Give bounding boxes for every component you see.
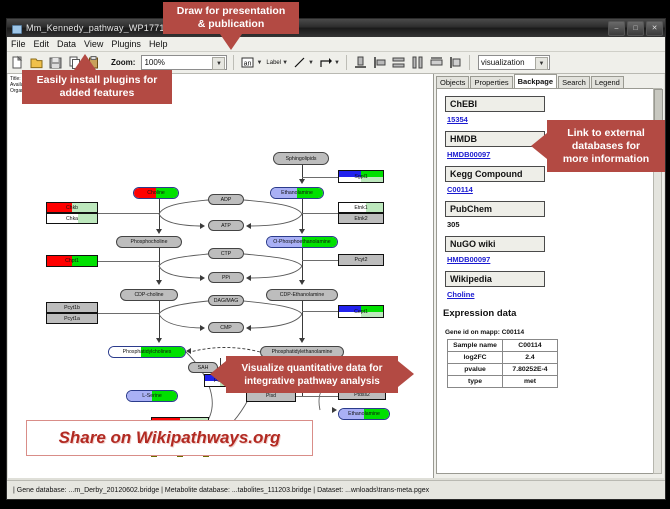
expression-key: Sample name bbox=[448, 340, 503, 352]
callout-link-line2: databases for bbox=[572, 140, 640, 153]
metabolite-node[interactable]: L-Serine bbox=[126, 390, 178, 402]
gene-node[interactable]: Chka bbox=[46, 213, 98, 224]
metabolite-node[interactable]: Phosphatidylcholines bbox=[108, 346, 186, 358]
metabolite-node[interactable]: Ethanolamine bbox=[270, 187, 324, 199]
arrow-icon bbox=[186, 348, 191, 354]
metabolite-label: Choline bbox=[147, 190, 165, 196]
gene-node[interactable]: Etnk2 bbox=[338, 213, 384, 224]
menu-item-data[interactable]: Data bbox=[57, 39, 76, 49]
statusbar: | Gene database: ...m_Derby_20120602.bri… bbox=[7, 480, 665, 499]
save-icon[interactable] bbox=[48, 55, 63, 70]
database-name-wikipedia: Wikipedia bbox=[445, 271, 545, 287]
gene-label: Chkb bbox=[66, 205, 78, 211]
gene-label: Pcyt1b bbox=[64, 305, 80, 311]
arrow-tool-icon[interactable] bbox=[318, 55, 333, 70]
callout-link-line1: Link to external bbox=[567, 127, 645, 140]
visualization-value: visualization bbox=[481, 58, 525, 67]
metabolite-node[interactable]: Phosphocholine bbox=[116, 236, 182, 248]
tab-legend[interactable]: Legend bbox=[591, 76, 624, 88]
text-label-icon[interactable]: an bbox=[240, 55, 255, 70]
callout-plugins-arrow bbox=[74, 54, 96, 70]
metabolite-label: Phosphatidylcholines bbox=[123, 349, 172, 355]
metabolite-label: PPi bbox=[222, 275, 230, 281]
metabolite-node[interactable]: CDP-Ethanolamine bbox=[266, 289, 338, 301]
metabolite-label: ATP bbox=[221, 223, 231, 229]
database-link-nugo-wiki[interactable]: HMDB00097 bbox=[447, 255, 657, 264]
stack-icon[interactable] bbox=[429, 55, 444, 70]
metabolite-label: ADP bbox=[221, 197, 232, 203]
database-link-wikipedia[interactable]: Choline bbox=[447, 290, 657, 299]
metabolite-label: DAG/MAG bbox=[214, 298, 239, 304]
gene-label: Pcyt1a bbox=[64, 316, 80, 322]
gene-node[interactable]: Sgpl1 bbox=[338, 170, 384, 183]
callout-plugins-line2: added features bbox=[60, 87, 135, 100]
gene-node[interactable]: Pcyt2 bbox=[338, 254, 384, 266]
tab-properties[interactable]: Properties bbox=[470, 76, 512, 88]
metabolite-label: O-Phosphoethanolamine bbox=[273, 239, 330, 245]
window-controls: – □ ✕ bbox=[608, 21, 663, 36]
app-icon bbox=[11, 23, 22, 34]
database-name-pubchem: PubChem bbox=[445, 201, 545, 217]
gene-label: Pcyt2 bbox=[355, 257, 368, 263]
zoom-value: 100% bbox=[144, 58, 164, 67]
callout-link-line3: more information bbox=[563, 153, 649, 166]
metabolite-label: Phosphocholine bbox=[131, 239, 168, 245]
align-left-icon[interactable] bbox=[372, 55, 387, 70]
expression-value: met bbox=[503, 376, 558, 388]
callout-visualize-arrow-right bbox=[398, 361, 414, 387]
menu-item-help[interactable]: Help bbox=[149, 39, 168, 49]
metabolite-label: CMP bbox=[220, 325, 232, 331]
expression-row: pvalue7.80252E-4 bbox=[448, 364, 558, 376]
callout-draw-for-publication: Draw for presentation & publication bbox=[163, 2, 299, 34]
metabolite-label: CDP-choline bbox=[134, 292, 163, 298]
chevron-down-icon[interactable]: ▼ bbox=[334, 60, 340, 66]
menu-item-view[interactable]: View bbox=[84, 39, 103, 49]
metabolite-label: Ethanolamine bbox=[281, 190, 313, 196]
metabolite-node[interactable]: Choline bbox=[133, 187, 179, 199]
chevron-down-icon[interactable]: ▼ bbox=[535, 57, 548, 70]
toolbar-separator bbox=[469, 55, 470, 70]
toolbar-separator bbox=[346, 55, 347, 70]
expression-data-heading: Expression data bbox=[443, 308, 657, 319]
database-name-chebi: ChEBI bbox=[445, 96, 545, 112]
menu-item-plugins[interactable]: Plugins bbox=[111, 39, 141, 49]
callout-draw-line1: Draw for presentation bbox=[177, 5, 286, 18]
svg-text:an: an bbox=[244, 61, 252, 68]
database-link-kegg-compound[interactable]: C00114 bbox=[447, 185, 657, 194]
metabolite-node[interactable]: ADP bbox=[208, 194, 244, 205]
expression-row: log2FC2.4 bbox=[448, 352, 558, 364]
metabolite-node[interactable]: CTP bbox=[208, 248, 244, 259]
metabolite-node[interactable]: CMP bbox=[208, 322, 244, 333]
label-dropdown-label: Label bbox=[266, 60, 281, 66]
expression-row: typemet bbox=[448, 376, 558, 388]
gene-label: Etnk2 bbox=[354, 216, 367, 222]
tab-search[interactable]: Search bbox=[558, 76, 590, 88]
database-name-hmdb: HMDB bbox=[445, 131, 545, 147]
visualization-combobox[interactable]: visualization ▼ bbox=[478, 55, 550, 70]
database-name-nugo-wiki: NuGO wiki bbox=[445, 236, 545, 252]
window-titlebar: Mm_Kennedy_pathway_WP1771_45176.gpml – □… bbox=[7, 19, 665, 37]
chevron-down-icon[interactable]: ▼ bbox=[212, 57, 225, 70]
line-tool-icon[interactable] bbox=[292, 55, 307, 70]
distribute-vertical-icon[interactable] bbox=[391, 55, 406, 70]
metabolite-label: L-Serine bbox=[142, 393, 162, 399]
callout-visualize-arrow-left bbox=[210, 361, 226, 387]
callout-plugins-line1: Easily install plugins for bbox=[37, 74, 158, 87]
callout-visualize-quantitative-data: Visualize quantitative data for integrat… bbox=[226, 356, 398, 393]
callout-draw-arrow bbox=[220, 34, 242, 50]
gene-label: Pisd bbox=[266, 393, 276, 399]
align-bottom-icon[interactable] bbox=[353, 55, 368, 70]
gene-node[interactable]: Pcyt1a bbox=[46, 313, 98, 324]
expression-value: 2.4 bbox=[503, 352, 558, 364]
pathway-canvas[interactable]: Title: Availa Organ bbox=[8, 74, 434, 478]
expression-data-table: Sample nameC00114log2FC2.4pvalue7.80252E… bbox=[447, 339, 558, 388]
new-file-icon[interactable] bbox=[10, 55, 25, 70]
callout-share-on-wikipathways: Share on Wikipathways.org bbox=[26, 420, 313, 456]
metabolite-node[interactable]: ATP bbox=[208, 220, 244, 231]
expression-value: 7.80252E-4 bbox=[503, 364, 558, 376]
gene-node[interactable]: Chpt1 bbox=[46, 255, 98, 267]
expression-key: log2FC bbox=[448, 352, 503, 364]
chevron-down-icon[interactable]: ▼ bbox=[256, 60, 262, 66]
chevron-down-icon[interactable]: ▼ bbox=[282, 60, 288, 66]
metabolite-label: CDP-Ethanolamine bbox=[280, 292, 324, 298]
gene-node[interactable]: Etnk1 bbox=[338, 202, 384, 213]
metabolite-node[interactable]: Sphingolipids bbox=[273, 152, 329, 165]
metabolite-label: Ethanolamine bbox=[348, 411, 380, 417]
metabolite-label: Sphingolipids bbox=[286, 156, 317, 162]
close-button[interactable]: ✕ bbox=[646, 21, 663, 36]
distribute-horizontal-icon[interactable] bbox=[410, 55, 425, 70]
open-folder-icon[interactable] bbox=[29, 55, 44, 70]
expression-value: C00114 bbox=[503, 340, 558, 352]
gene-id-label: Gene id on mapp: C00114 bbox=[445, 329, 657, 336]
gene-node[interactable]: Cept1 bbox=[338, 305, 384, 318]
text-label-tool-group[interactable]: an ▼ bbox=[240, 55, 262, 70]
tab-backpage[interactable]: Backpage bbox=[514, 74, 557, 88]
minimize-button[interactable]: – bbox=[608, 21, 625, 36]
line-tool-group[interactable]: ▼ bbox=[292, 55, 314, 70]
zoom-label: Zoom: bbox=[111, 58, 135, 67]
expression-key: type bbox=[448, 376, 503, 388]
screenshot-root: Mm_Kennedy_pathway_WP1771_45176.gpml – □… bbox=[0, 0, 670, 509]
toolbar-separator bbox=[233, 55, 234, 70]
node-fill-right bbox=[78, 214, 97, 223]
metabolite-node[interactable]: CDP-choline bbox=[120, 289, 178, 301]
database-name-kegg-compound: Kegg Compound bbox=[445, 166, 545, 182]
callout-easily-install-plugins: Easily install plugins for added feature… bbox=[22, 70, 172, 104]
maximize-button[interactable]: □ bbox=[627, 21, 644, 36]
callout-visualize-line1: Visualize quantitative data for bbox=[242, 362, 383, 375]
metabolite-label: SAH bbox=[198, 365, 209, 371]
gene-label: Sgpl1 bbox=[354, 174, 367, 180]
metabolite-node[interactable]: O-Phosphoethanolamine bbox=[266, 236, 338, 248]
gene-label: Chka bbox=[66, 216, 78, 222]
gene-label: Chpt1 bbox=[65, 258, 79, 264]
expression-row: Sample nameC00114 bbox=[448, 340, 558, 352]
menu-item-file[interactable]: File bbox=[11, 39, 26, 49]
callout-link-to-external-databases: Link to external databases for more info… bbox=[547, 120, 665, 172]
callout-draw-line2: & publication bbox=[198, 18, 265, 31]
menubar: File Edit Data View Plugins Help bbox=[7, 37, 665, 52]
arrow-tool-group[interactable]: ▼ bbox=[318, 55, 340, 70]
metabolite-node[interactable]: DAG/MAG bbox=[208, 295, 244, 306]
statusbar-text: | Gene database: ...m_Derby_20120602.bri… bbox=[7, 487, 429, 494]
gene-node[interactable]: Chkb bbox=[46, 202, 98, 213]
callout-visualize-line2: integrative pathway analysis bbox=[244, 375, 380, 388]
database-value-pubchem: 305 bbox=[447, 220, 657, 229]
tab-objects[interactable]: Objects bbox=[436, 76, 469, 88]
expression-key: pvalue bbox=[448, 364, 503, 376]
node-fill-right bbox=[366, 203, 383, 212]
zoom-combobox[interactable]: 100% ▼ bbox=[141, 55, 227, 70]
callout-link-arrow bbox=[531, 133, 547, 159]
metabolite-node[interactable]: Ethanolamine bbox=[338, 408, 390, 420]
gene-label: Cept1 bbox=[354, 309, 368, 315]
group-icon[interactable] bbox=[448, 55, 463, 70]
menu-item-edit[interactable]: Edit bbox=[34, 39, 50, 49]
side-panel-tabs: ObjectsPropertiesBackpageSearchLegend bbox=[436, 74, 625, 88]
chevron-down-icon[interactable]: ▼ bbox=[308, 60, 314, 66]
metabolite-label: Phosphatidylethanolamine bbox=[272, 349, 333, 355]
metabolite-node[interactable]: PPi bbox=[208, 272, 244, 283]
label-dropdown-group[interactable]: Label ▼ bbox=[266, 60, 288, 66]
metabolite-label: CTP bbox=[221, 251, 231, 257]
gene-label: Etnk1 bbox=[354, 205, 367, 211]
gene-node[interactable]: Pcyt1b bbox=[46, 302, 98, 313]
